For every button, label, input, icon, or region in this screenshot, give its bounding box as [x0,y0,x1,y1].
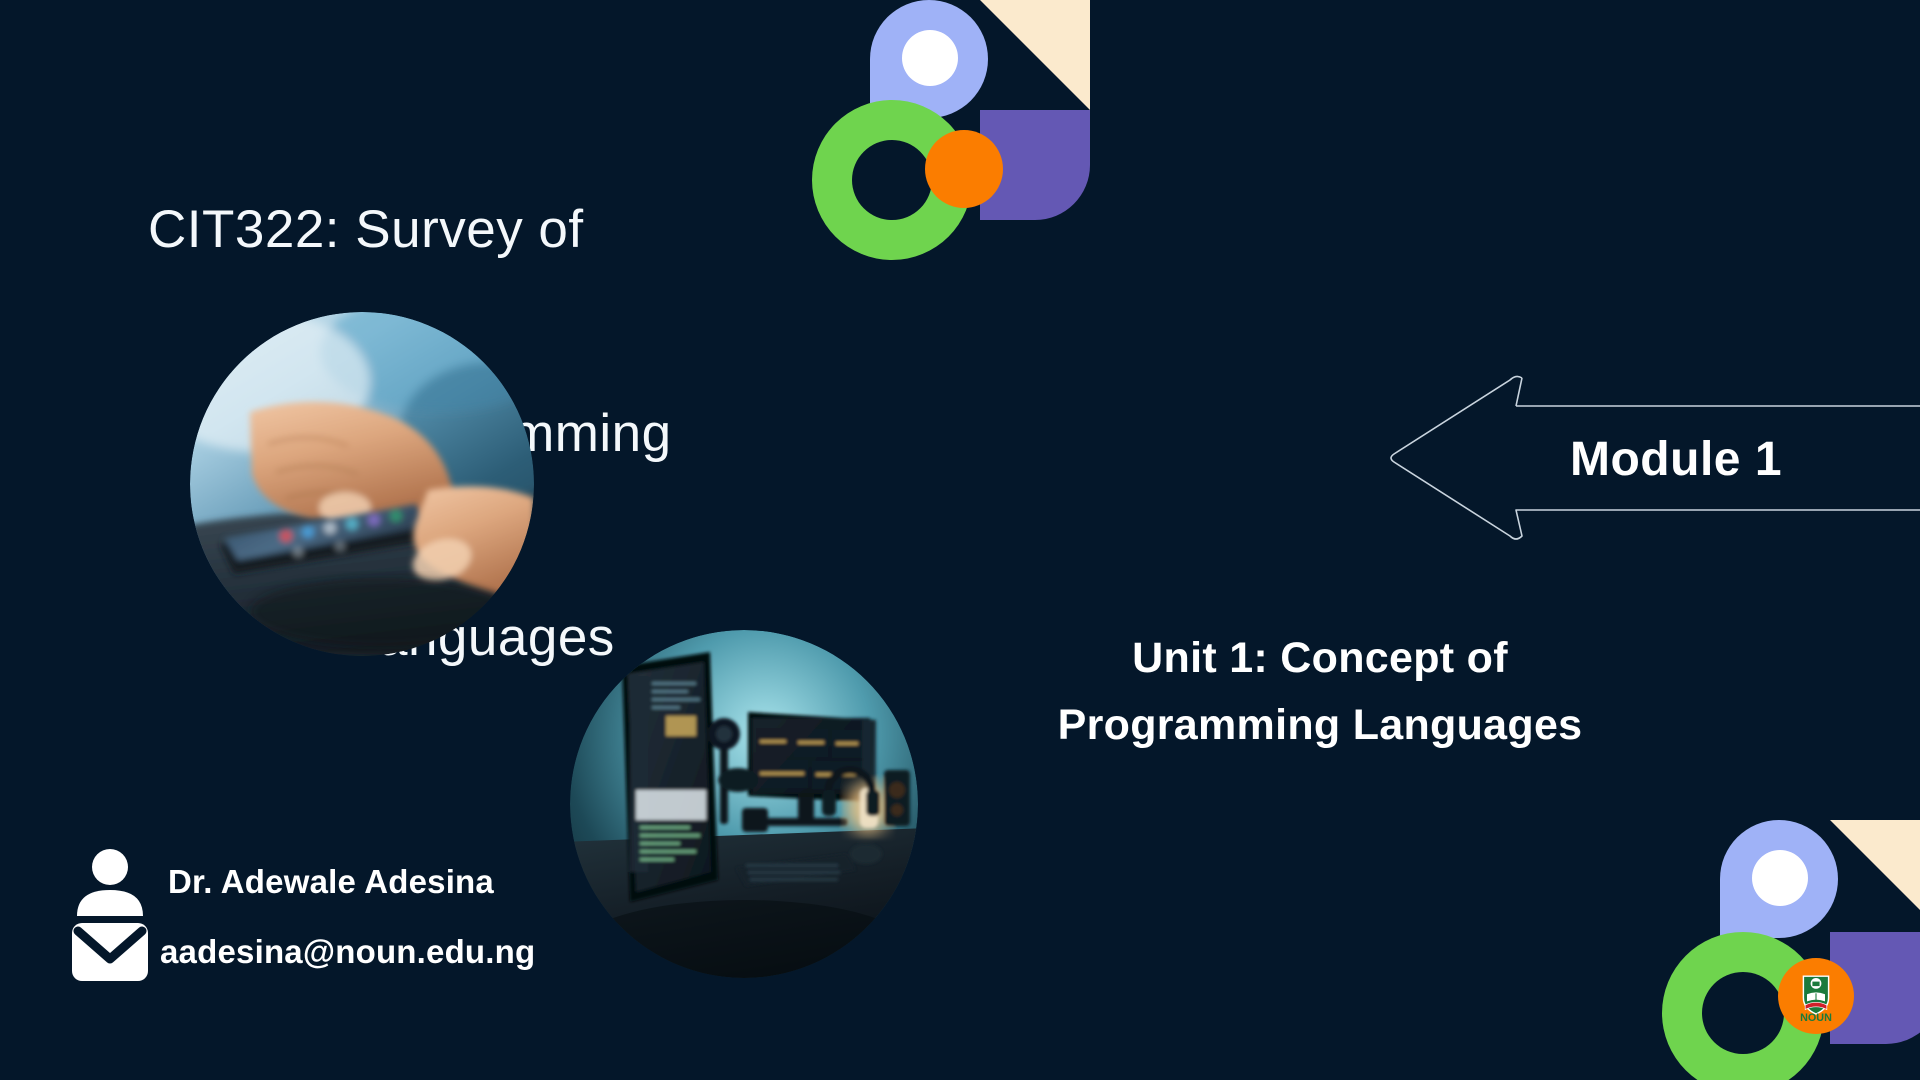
module-label: Module 1 [1570,432,1782,487]
orange-circle-icon: NOUN [1778,958,1854,1034]
unit-heading: Unit 1: Concept of Programming Languages [1000,625,1640,759]
green-ring-hole [1702,972,1784,1054]
brand-motif-top [830,0,1100,272]
teardrop-inner-circle-icon [1752,850,1808,906]
brand-motif-bottom: NOUN [1670,810,1920,1080]
envelope-icon [62,921,158,983]
orange-circle-icon [925,130,1003,208]
author-email-row: aadesina@noun.edu.ng [62,918,535,986]
cream-triangle-icon [1830,820,1920,932]
noun-crest-icon: NOUN [1789,969,1843,1023]
author-name-row: Dr. Adewale Adesina [62,848,535,916]
course-title-line-1: CIT322: Survey of [148,196,828,264]
person-icon [62,848,158,916]
cream-triangle-icon [980,0,1090,110]
unit-heading-line-1: Unit 1: Concept of [1000,625,1640,692]
svg-text:NOUN: NOUN [1800,1012,1832,1023]
green-ring-hole [852,140,932,220]
author-name: Dr. Adewale Adesina [168,863,494,901]
unit-heading-line-2: Programming Languages [1000,692,1640,759]
dual-monitor-workstation-photo [570,630,918,978]
hand-on-smartphone-photo [190,312,534,656]
author-email: aadesina@noun.edu.ng [160,933,535,971]
teardrop-inner-circle-icon [902,30,958,86]
author-block: Dr. Adewale Adesina aadesina@noun.edu.ng [62,848,535,986]
slide-canvas: CIT322: Survey of Programming Languages [0,0,1920,1080]
